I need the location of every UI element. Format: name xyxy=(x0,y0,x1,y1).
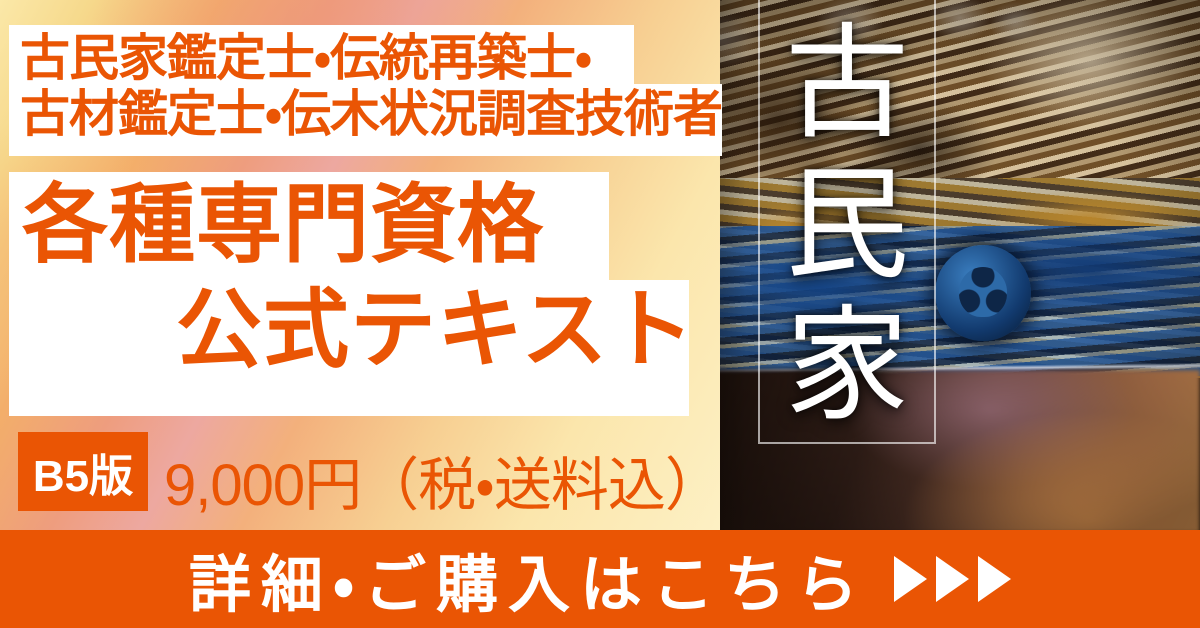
cta-label: 詳細・ご購入はこちら xyxy=(189,534,868,624)
cta-button[interactable]: 詳細・ご購入はこちら xyxy=(0,530,1200,628)
book-title-char-2: 民 xyxy=(785,164,909,288)
triangle-right-icon xyxy=(894,556,927,602)
title-line-2: 公式テキスト xyxy=(176,287,695,375)
price-text: 9,000円（税・送料込） xyxy=(164,438,722,522)
title-line-1: 各種専門資格 xyxy=(22,182,544,270)
cta-arrows xyxy=(894,556,1011,602)
book-title: 古 民 家 xyxy=(758,6,936,446)
book-title-char-3: 家 xyxy=(785,305,909,429)
price-row: B5版 9,000円（税・送料込） xyxy=(0,416,700,526)
family-crest-medallion xyxy=(935,245,1031,341)
triangle-right-icon xyxy=(978,556,1011,602)
headline-line-1: 古民家鑑定士・伝統再築士・ xyxy=(20,32,591,84)
promo-banner: 古 民 家 伝統構法、古民家活用のための調査と再生の 古民家鑑定士・伝統再築士・… xyxy=(0,0,1200,628)
book-title-char-1: 古 xyxy=(785,23,909,147)
size-badge: B5版 xyxy=(18,432,148,511)
triangle-right-icon xyxy=(936,556,969,602)
headline-line-2: 古材鑑定士・伝木状況調査技術者 xyxy=(20,88,722,140)
